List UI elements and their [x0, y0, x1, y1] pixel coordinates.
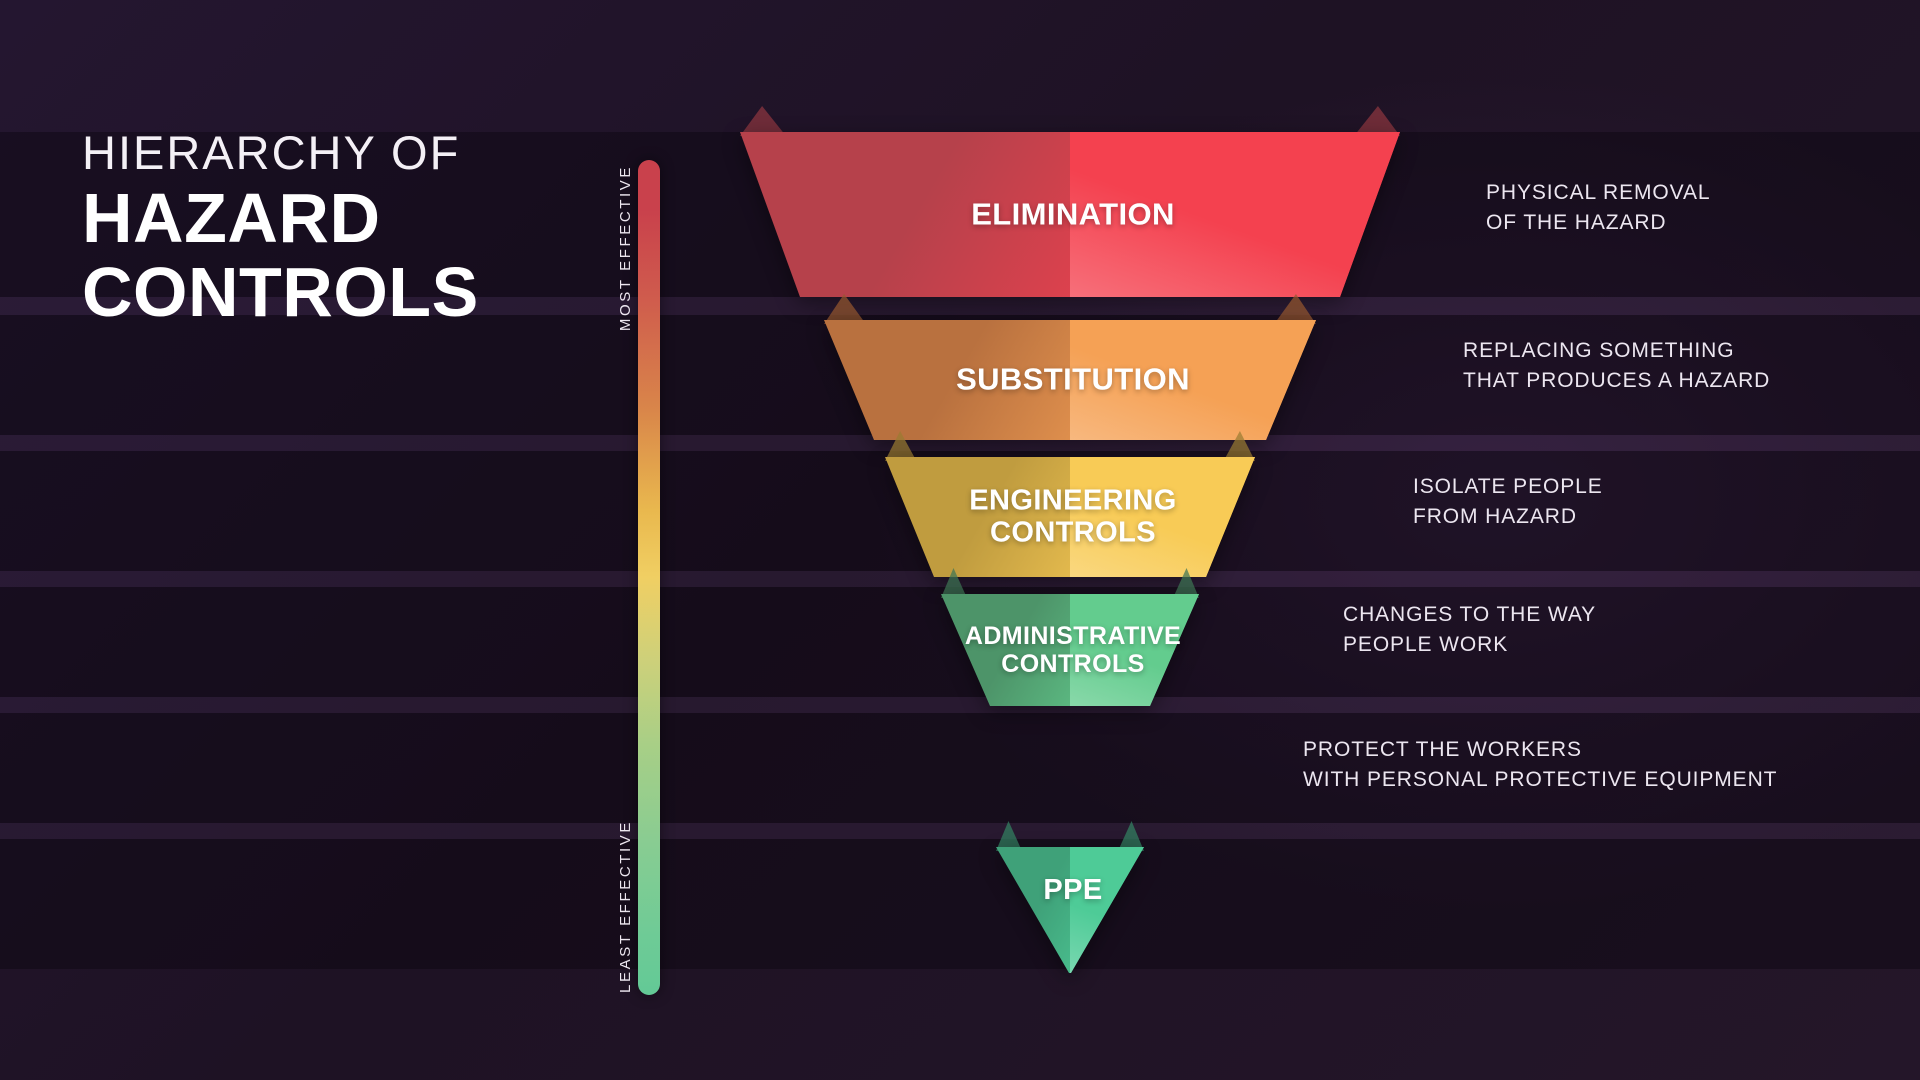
- tier-description: PROTECT THE WORKERS WITH PERSONAL PROTEC…: [1303, 735, 1777, 796]
- page-title: HIERARCHY OF HAZARD CONTROLS: [82, 128, 552, 328]
- tier-shape-left-half: [740, 132, 1070, 297]
- tier-shape-left-half: [996, 847, 1070, 973]
- tier-shape-left-half: [824, 320, 1070, 440]
- funnel-tier-engineering-controls[interactable]: ENGINEERINGCONTROLS: [885, 457, 1255, 577]
- funnel-tier-administrative-controls[interactable]: ADMINISTRATIVECONTROLS: [941, 594, 1199, 706]
- funnel-tier-ppe[interactable]: PPE: [996, 847, 1144, 973]
- funnel-tier-substitution[interactable]: SUBSTITUTION: [824, 320, 1316, 440]
- title-line-3: CONTROLS: [82, 257, 552, 328]
- tier-shape-right-half: [1070, 132, 1400, 297]
- tier-description: CHANGES TO THE WAY PEOPLE WORK: [1343, 600, 1596, 661]
- tier-description: REPLACING SOMETHING THAT PRODUCES A HAZA…: [1463, 336, 1770, 397]
- effectiveness-scale: MOST EFFECTIVE LEAST EFFECTIVE: [600, 160, 660, 995]
- tier-shape: [996, 847, 1144, 973]
- tier-shape-left-half: [885, 457, 1070, 577]
- tier-shape-right-half: [1070, 320, 1316, 440]
- tier-description: ISOLATE PEOPLE FROM HAZARD: [1413, 472, 1603, 533]
- tier-shape-right-half: [1070, 847, 1144, 973]
- title-line-2: HAZARD: [82, 183, 552, 254]
- scale-gradient-bar: [638, 160, 660, 995]
- tier-shape-right-half: [1070, 594, 1199, 706]
- tier-shape: [885, 457, 1255, 577]
- tier-shape: [941, 594, 1199, 706]
- tier-shape-right-half: [1070, 457, 1255, 577]
- tier-shape: [740, 132, 1400, 297]
- tier-shape: [824, 320, 1316, 440]
- scale-label-least-effective: LEAST EFFECTIVE: [617, 820, 634, 993]
- title-line-1: HIERARCHY OF: [82, 128, 552, 177]
- tier-shape-left-half: [941, 594, 1070, 706]
- funnel-tier-elimination[interactable]: ELIMINATION: [740, 132, 1400, 297]
- tier-description: PHYSICAL REMOVAL OF THE HAZARD: [1486, 178, 1710, 239]
- infographic-canvas: HIERARCHY OF HAZARD CONTROLS MOST EFFECT…: [0, 0, 1920, 1080]
- hazard-control-funnel: ELIMINATIONSUBSTITUTIONENGINEERINGCONTRO…: [660, 128, 1480, 998]
- scale-label-most-effective: MOST EFFECTIVE: [617, 165, 634, 331]
